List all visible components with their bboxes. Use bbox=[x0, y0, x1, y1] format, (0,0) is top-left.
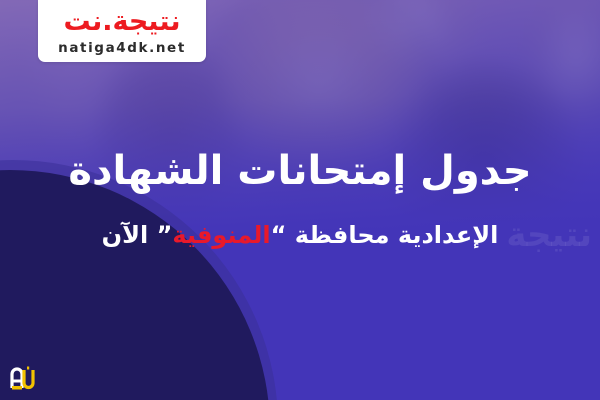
site-logo[interactable]: نتيجة.نت natiga4dk.net bbox=[38, 0, 206, 62]
logo-domain-text: natiga4dk.net bbox=[58, 42, 186, 56]
logo-arabic-text: نتيجة.نت bbox=[64, 8, 181, 35]
page-title: جدول إمتحانات الشهادة bbox=[0, 148, 600, 195]
promo-banner: نتيجة نتيجة.نت natiga4dk.net جدول إمتحان… bbox=[0, 0, 600, 400]
page-subtitle: الإعدادية محافظة “المنوفية” الآن bbox=[0, 221, 600, 250]
subtitle-before-text: الإعدادية محافظة “ bbox=[271, 221, 499, 249]
subtitle-governorate-name: المنوفية bbox=[172, 221, 270, 249]
headline-block: جدول إمتحانات الشهادة الإعدادية محافظة “… bbox=[0, 148, 600, 250]
natiga-monogram-icon bbox=[10, 366, 36, 390]
subtitle-after-text: ” الآن bbox=[102, 221, 173, 249]
